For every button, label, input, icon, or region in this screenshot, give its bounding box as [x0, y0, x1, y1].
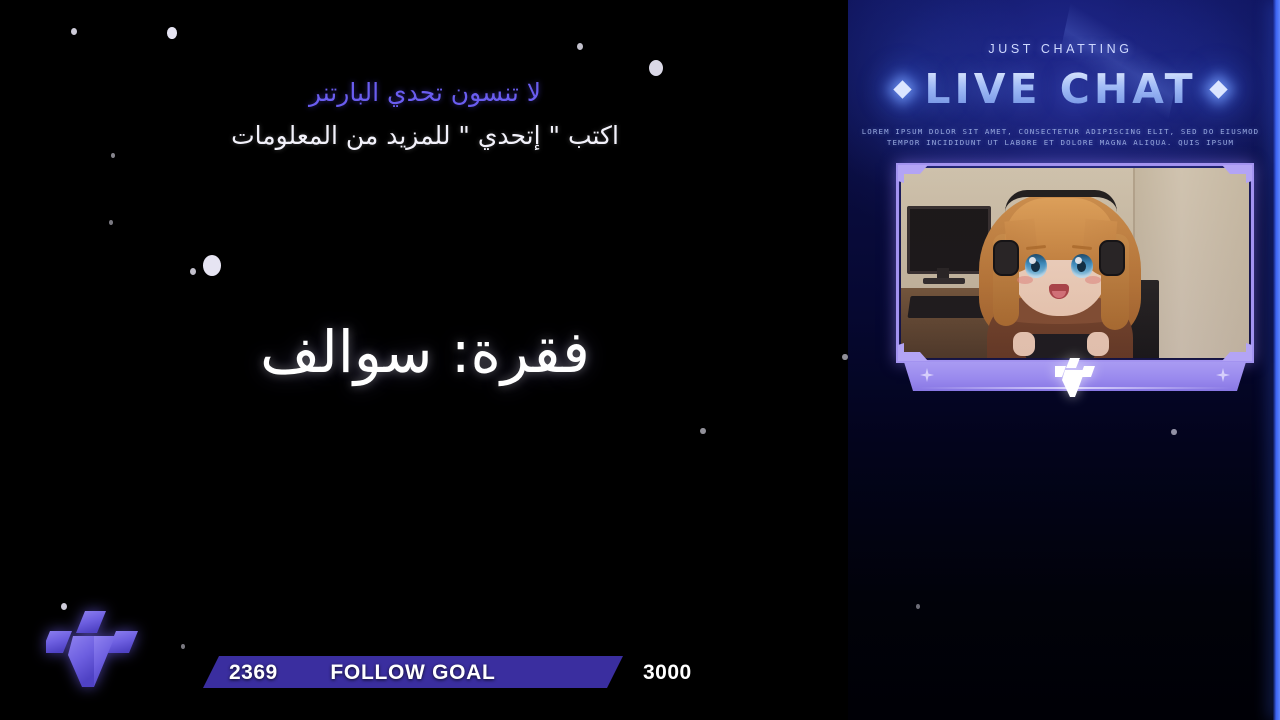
avatar-eye-left	[1025, 254, 1047, 278]
main-scene: لا تنسون تحدي البارتنر اكتب " إتحدي " لل…	[0, 0, 850, 720]
bottom-bar-mark-left-icon	[920, 368, 934, 382]
announcement-line-secondary: اكتب " إتحدي " للمزيد من المعلومات	[0, 116, 850, 156]
panel-title-row: LIVE CHAT	[848, 63, 1273, 115]
stream-overlay: لا تنسون تحدي البارتنر اكتب " إتحدي " لل…	[0, 0, 1280, 720]
panel-subtitle-line-2: TEMPOR INCIDIDUNT UT LABORE ET DOLORE MA…	[848, 137, 1273, 148]
panel-header: JUST CHATTING LIVE CHAT LOREM IPSUM DOLO…	[848, 42, 1273, 148]
follow-goal-bar: 2369 FOLLOW GOAL	[203, 656, 623, 688]
follow-goal-target: 3000	[643, 661, 692, 685]
avatar-eye-shine-left	[1029, 257, 1036, 264]
avatar-hand-left	[1013, 332, 1035, 356]
headphone-cup-left-icon	[993, 240, 1019, 276]
avatar-eye-shine-right	[1075, 257, 1082, 264]
monitor-base	[923, 278, 965, 284]
avatar-blush-left	[1017, 276, 1033, 284]
avatar-tongue	[1052, 291, 1066, 298]
follow-goal-widget: 2369 FOLLOW GOAL	[0, 656, 850, 690]
handheld-console-icon	[1025, 334, 1095, 358]
avatar-blush-right	[1085, 276, 1101, 284]
diamond-icon-left	[894, 80, 912, 98]
bottom-bar-mark-right-icon	[1216, 368, 1230, 382]
panel-edge-glow	[1273, 0, 1280, 720]
panel-subtitle-line-1: LOREM IPSUM DOLOR SIT AMET, CONSECTETUR …	[848, 126, 1273, 137]
avatar-hand-right	[1087, 332, 1109, 356]
diamond-icon-right	[1209, 80, 1227, 98]
avatar-eye-right	[1071, 254, 1093, 278]
panel-kicker: JUST CHATTING	[848, 42, 1273, 56]
segment-title: فقرة: سوالف	[0, 318, 850, 386]
panel-subtitle: LOREM IPSUM DOLOR SIT AMET, CONSECTETUR …	[848, 126, 1273, 148]
follow-goal-label: FOLLOW GOAL	[203, 661, 623, 685]
webcam-feed	[901, 168, 1249, 358]
headphone-band-icon	[1005, 190, 1117, 212]
announcement-block: لا تنسون تحدي البارتنر اكتب " إتحدي " لل…	[0, 74, 850, 156]
panel-title: LIVE CHAT	[924, 69, 1196, 110]
v-crest-icon	[1055, 356, 1095, 398]
announcement-line-primary: لا تنسون تحدي البارتنر	[0, 74, 850, 112]
headphone-cup-right-icon	[1099, 240, 1125, 276]
webcam-frame	[896, 163, 1254, 391]
